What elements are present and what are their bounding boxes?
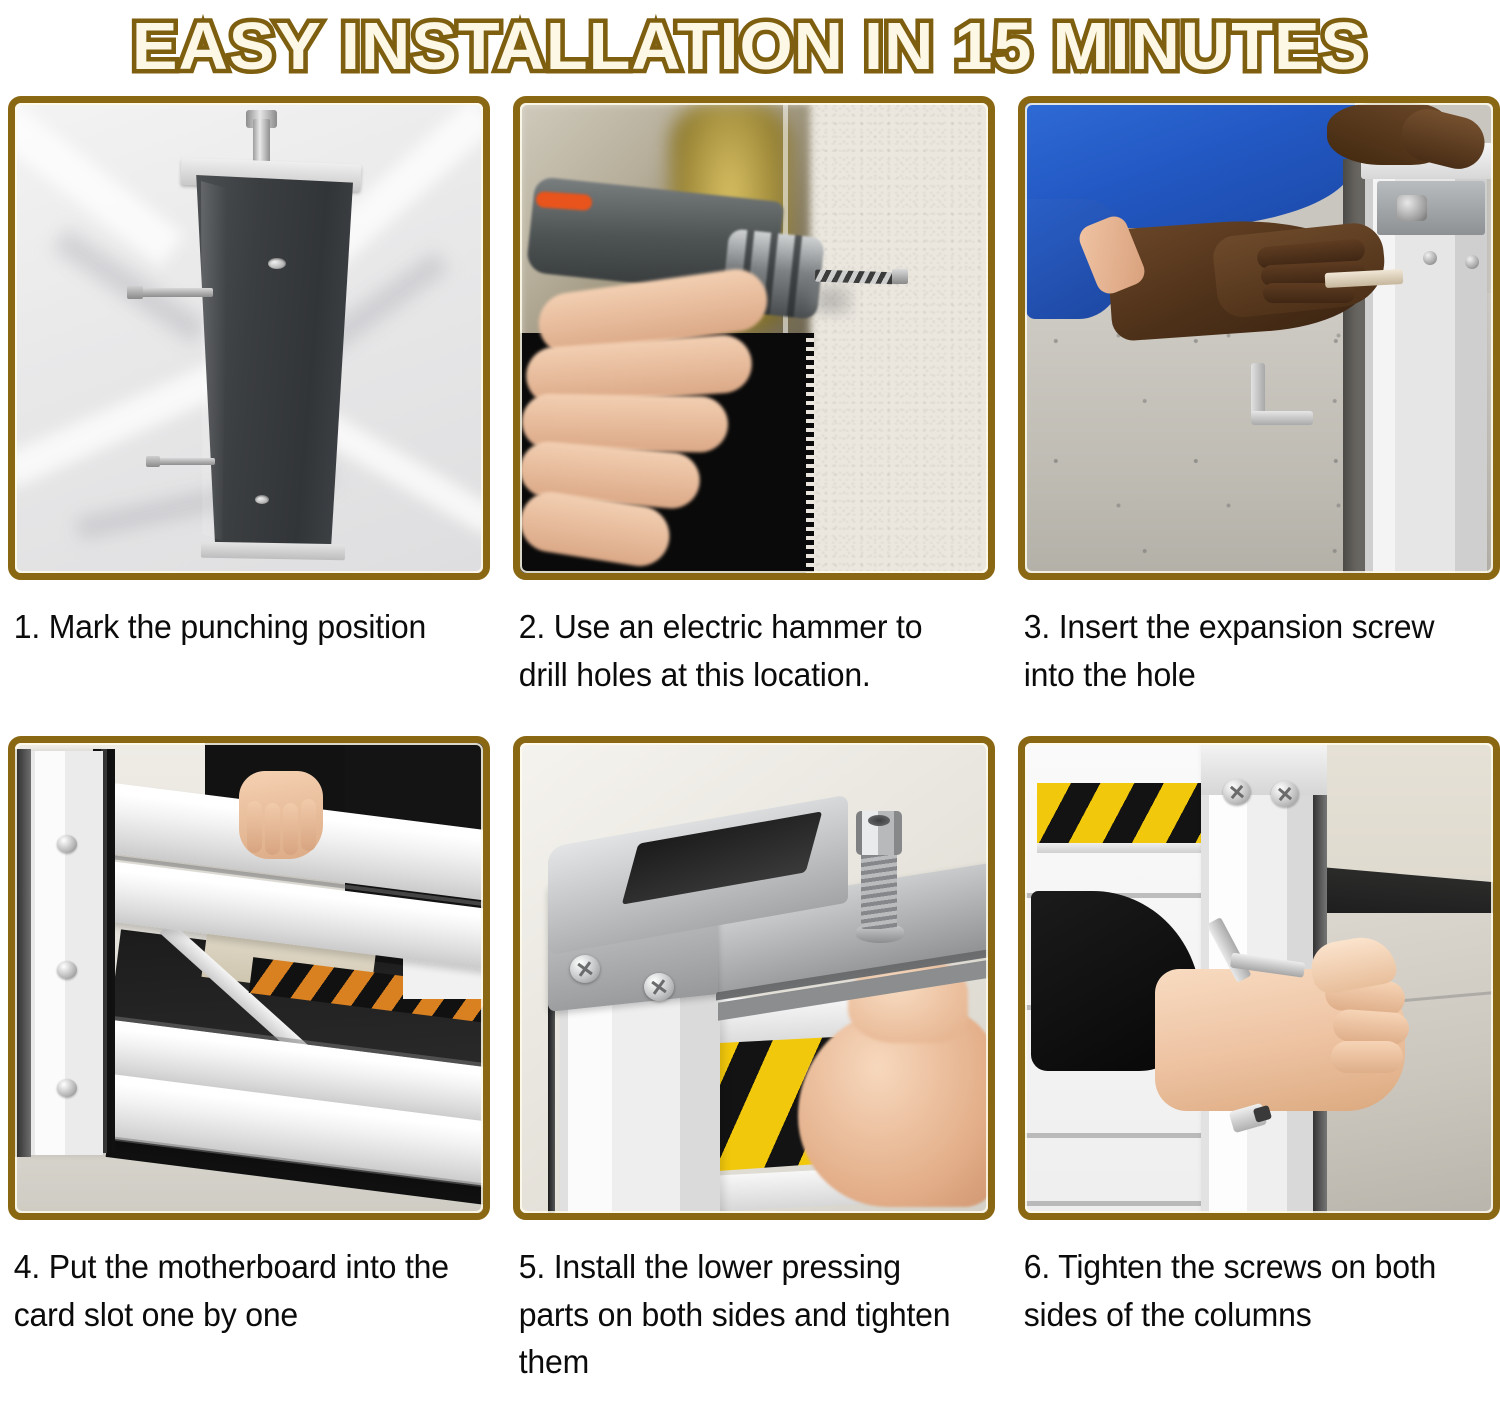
step-1-photo-frame (8, 96, 490, 580)
step-5-photo-frame (513, 736, 995, 1220)
step-4-photo-frame (8, 736, 490, 1220)
step-2: 2. Use an electric hammer to drill holes… (513, 96, 1003, 736)
photo-tightening-column-screws (1025, 743, 1493, 1213)
photo-drilling-wall-with-electric-hammer (520, 103, 988, 573)
photo-boards-into-card-slot (15, 743, 483, 1213)
step-6-photo-frame (1018, 736, 1500, 1220)
step-2-caption: 2. Use an electric hammer to drill holes… (513, 604, 981, 699)
step-1: 1. Mark the punching position (8, 96, 498, 736)
installation-guide-page: EASY INSTALLATION IN 15 MINUTES (0, 0, 1500, 1403)
step-3-caption: 3. Insert the expansion screw into the h… (1018, 604, 1486, 699)
page-title: EASY INSTALLATION IN 15 MINUTES (132, 13, 1367, 80)
step-6-caption: 6. Tighten the screws on both sides of t… (1018, 1244, 1486, 1339)
title-banner: EASY INSTALLATION IN 15 MINUTES (0, 0, 1500, 92)
step-3: 3. Insert the expansion screw into the h… (1018, 96, 1500, 736)
photo-marked-column-on-white-fabric (15, 103, 483, 573)
photo-lower-pressing-part-with-bolt (520, 743, 988, 1213)
steps-grid: 1. Mark the punching position (0, 96, 1500, 1403)
step-4: 4. Put the motherboard into the card slo… (8, 736, 498, 1376)
photo-inserting-expansion-screw (1025, 103, 1493, 573)
step-5: 5. Install the lower pressing parts on b… (513, 736, 1003, 1376)
step-5-caption: 5. Install the lower pressing parts on b… (513, 1244, 981, 1387)
step-6: 6. Tighten the screws on both sides of t… (1018, 736, 1500, 1376)
step-1-caption: 1. Mark the punching position (8, 604, 476, 652)
step-4-caption: 4. Put the motherboard into the card slo… (8, 1244, 476, 1339)
step-2-photo-frame (513, 96, 995, 580)
step-3-photo-frame (1018, 96, 1500, 580)
